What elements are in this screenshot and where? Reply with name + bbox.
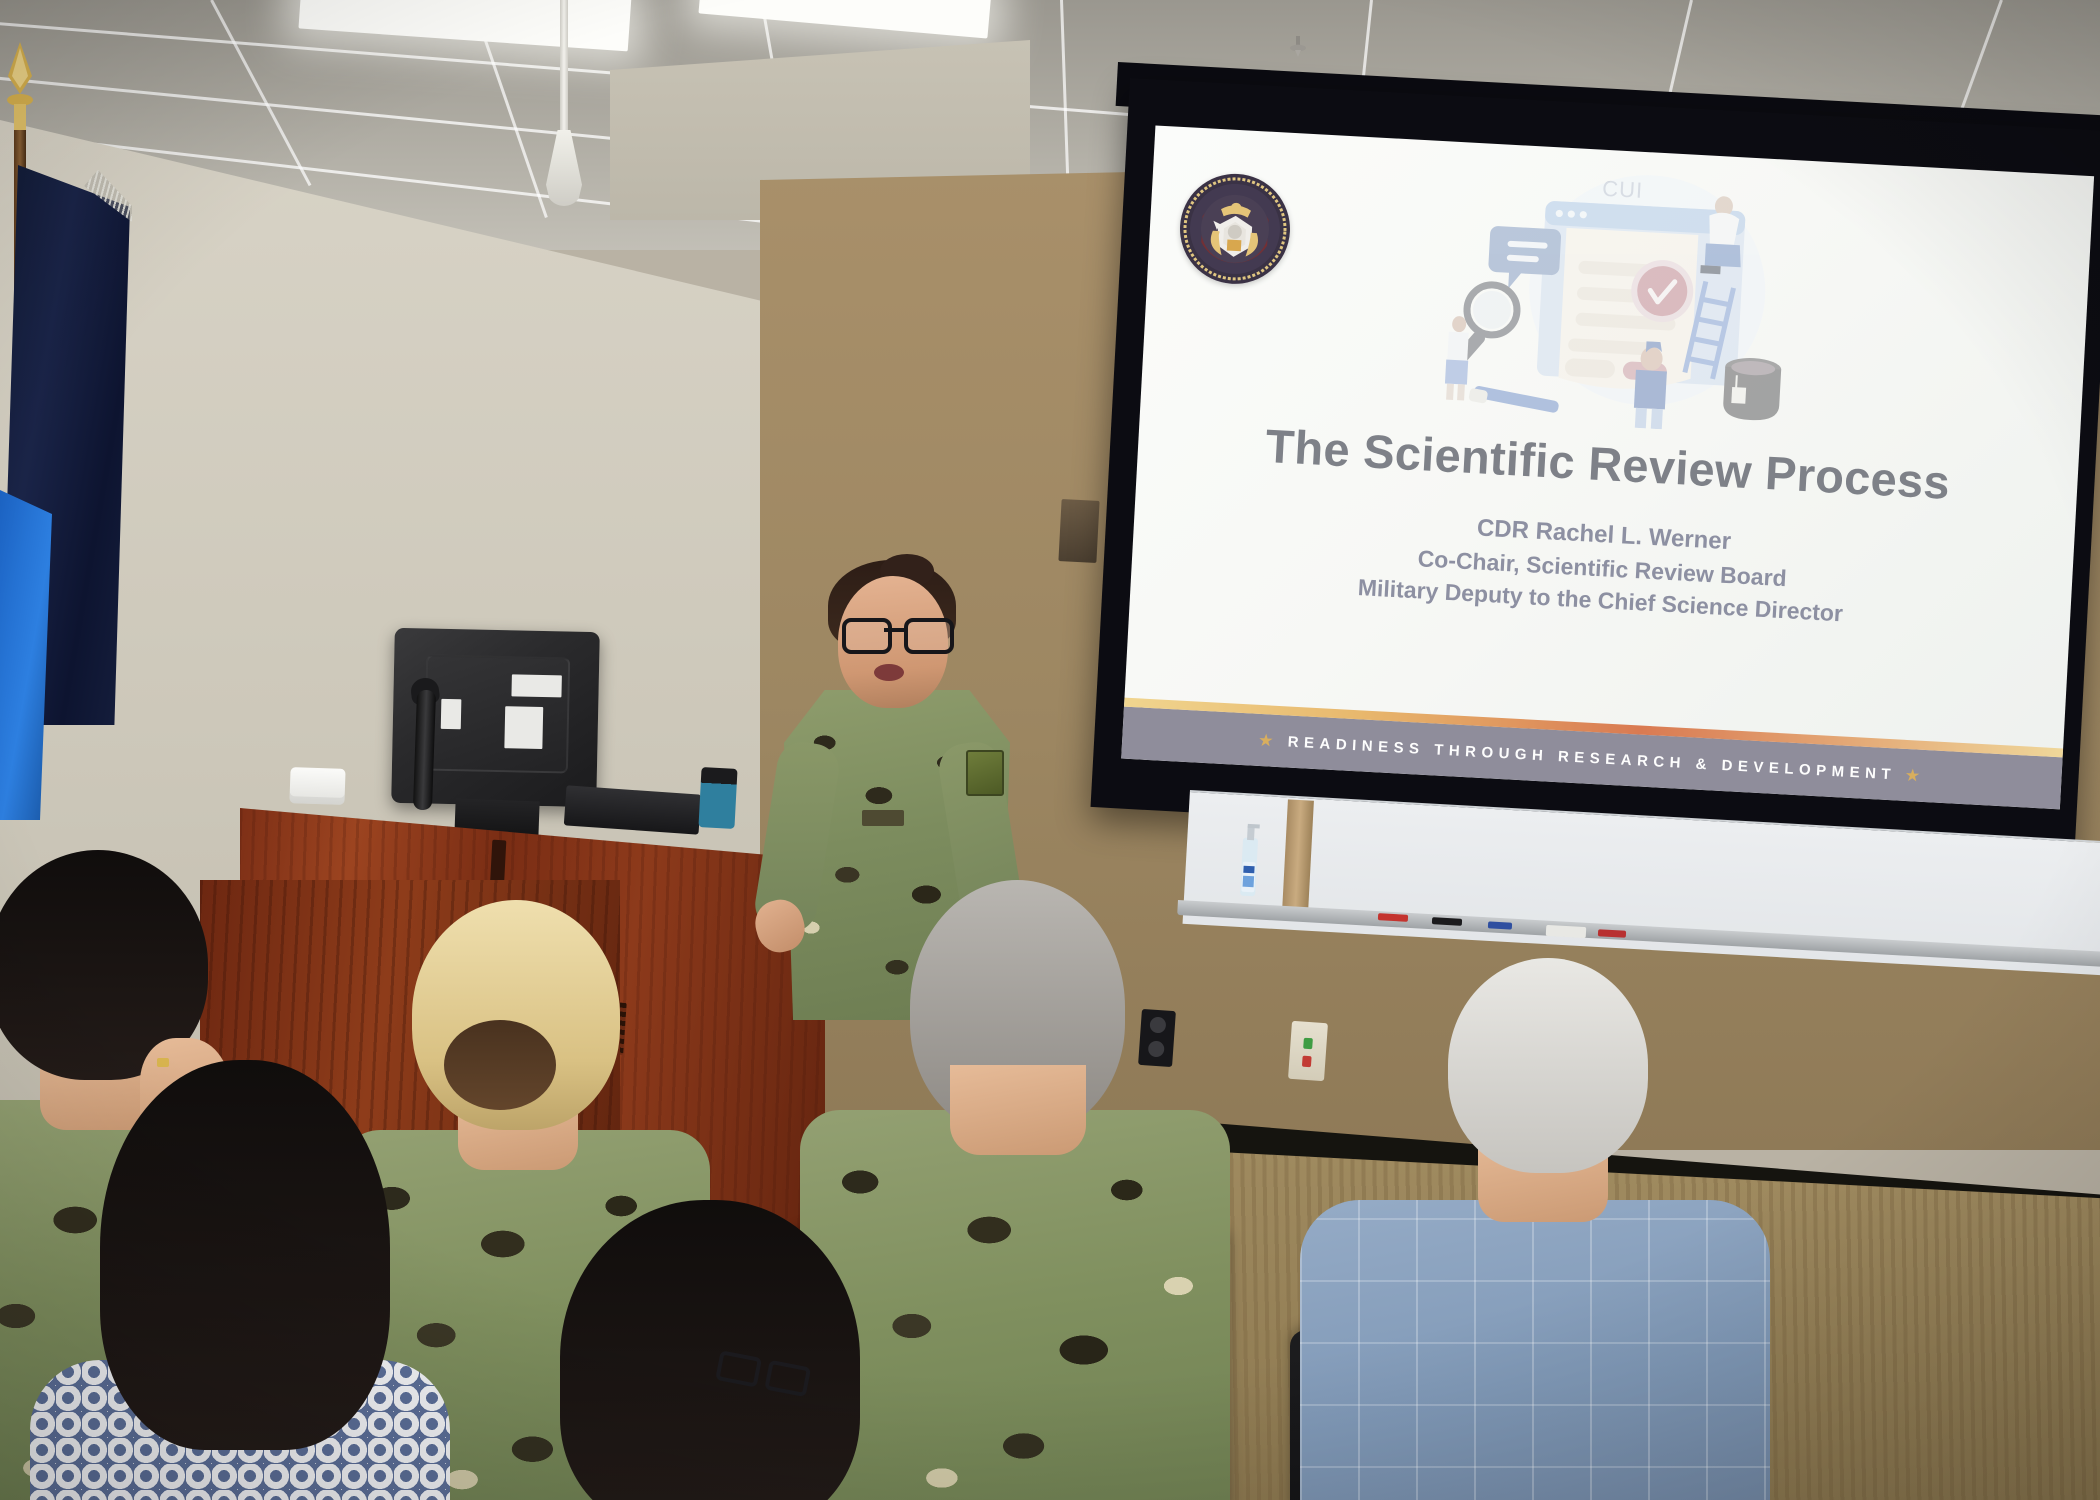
shoulder-patch (966, 750, 1004, 796)
audience-member-6-head (560, 1200, 860, 1500)
audience-member-5 (30, 1060, 450, 1500)
audience-member-6 (520, 1200, 900, 1500)
monitor-asset-label-2 (504, 706, 543, 749)
white-container (289, 767, 345, 805)
scientific-review-illustration (1430, 159, 1843, 438)
fluorescent-light-panel-2 (698, 0, 991, 39)
fluorescent-light-panel (298, 0, 631, 51)
marker-red-2[interactable] (1598, 929, 1626, 938)
hand-sanitizer-bottle[interactable] (1234, 817, 1265, 900)
flag-spear-finial-icon (2, 42, 38, 132)
footer-star-left-icon: ★ (1259, 732, 1279, 750)
slide-surface: CUI (1121, 125, 2094, 809)
av-wall-plate[interactable] (1058, 499, 1099, 563)
water-bottle (698, 767, 737, 829)
marker-blue[interactable] (1488, 921, 1512, 929)
audience-member-4-head (1448, 958, 1648, 1173)
ceiling-microphone (560, 0, 568, 135)
eraser[interactable] (1546, 925, 1587, 938)
presenter-mouth (874, 664, 904, 681)
briefing-room-scene: CUI (0, 0, 2100, 1500)
audience-member-3-neck (950, 1065, 1086, 1155)
sprinkler-head (1290, 36, 1306, 58)
eyeglasses-icon (842, 618, 946, 646)
slide-subtitle-block: CDR Rachel L. Werner Co-Chair, Scientifi… (1130, 493, 2074, 642)
footer-star-right-icon: ★ (1905, 767, 1925, 785)
projector-screen: CUI (1091, 78, 2100, 860)
naval-medical-research-unit-seal (1177, 171, 1293, 287)
audience-member-5-head (100, 1060, 390, 1450)
monitor-asset-label-3 (441, 699, 462, 729)
rank-insignia (862, 810, 904, 826)
audience-member-4-suit-jacket (1300, 1200, 1770, 1500)
monitor-asset-label-1 (511, 674, 561, 697)
audience-member-4 (1300, 950, 1770, 1500)
audience-member-2-hair-bun (444, 1020, 556, 1110)
